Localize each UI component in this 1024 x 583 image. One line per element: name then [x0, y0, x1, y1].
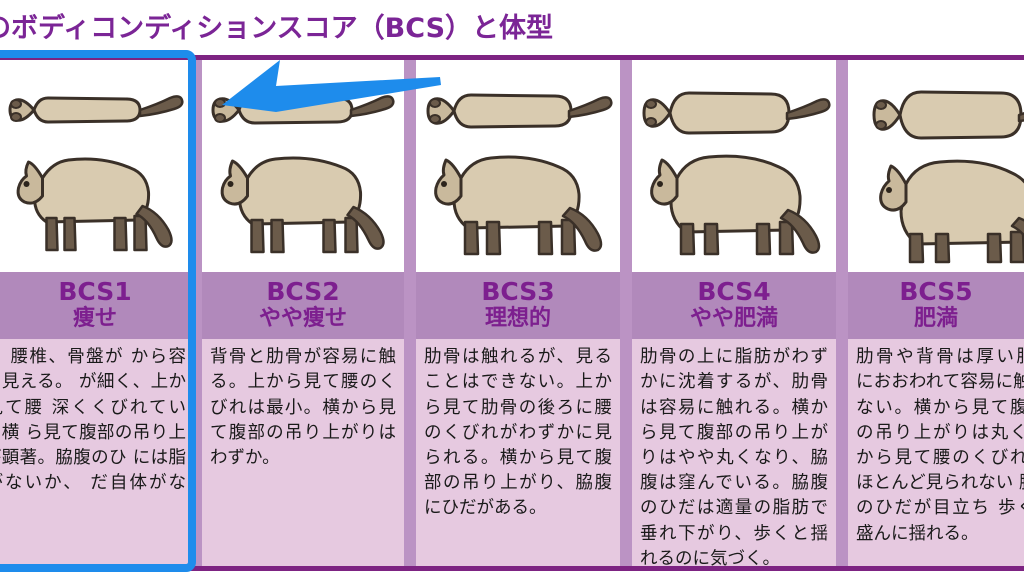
- bcs-description-1: 骨、 腰椎、骨盤が から容 易に見える。 が細く、上から見て腰 深くくびれている…: [0, 339, 190, 566]
- bcs-column-5[interactable]: BCS5 肥満 肋骨や背骨は厚い脂肪 におおわれて容易に触 れない。横から見て腹…: [842, 60, 1024, 566]
- cat-side-view-icon: [3, 144, 188, 264]
- bcs-columns: BCS1 痩せ 骨、 腰椎、骨盤が から容 易に見える。 が細く、上から見て腰 …: [0, 60, 1024, 566]
- table-bottom-rule: [0, 566, 1024, 571]
- bcs-header-1: BCS1 痩せ: [0, 272, 190, 339]
- cat-side-view-icon: [419, 144, 617, 266]
- bcs-header-2: BCS2 やや痩せ: [202, 272, 404, 339]
- bcs-column-3[interactable]: BCS3 理想的 肋骨は触れるが、見ることはできない。上から見て肋骨の後ろに腰の…: [410, 60, 626, 566]
- cat-illustration-3: [416, 60, 620, 272]
- bcs-column-4[interactable]: BCS4 やや肥満 肋骨の上に脂肪がわずかに沈着するが、肋骨は容易に触れる。横か…: [626, 60, 842, 566]
- bcs-score-label-1: BCS1: [0, 278, 190, 306]
- cat-top-view-icon: [634, 84, 834, 142]
- bcs-score-label-5: BCS5: [848, 278, 1024, 306]
- annotation-arrow-icon: [214, 60, 442, 122]
- bcs-description-3: 肋骨は触れるが、見ることはできない。上から見て肋骨の後ろに腰のくびれがわずかに見…: [416, 339, 620, 566]
- bcs-header-5: BCS5 肥満: [848, 272, 1024, 339]
- bcs-word-label-1: 痩せ: [0, 306, 190, 331]
- bcs-header-3: BCS3 理想的: [416, 272, 620, 339]
- cat-side-view-icon: [864, 150, 1024, 272]
- bcs-description-5: 肋骨や背骨は厚い脂肪 におおわれて容易に触 れない。横から見て腹 部の吊り上がり…: [848, 339, 1024, 566]
- bcs-word-label-2: やや痩せ: [202, 306, 404, 331]
- bcs-header-4: BCS4 やや肥満: [632, 272, 836, 339]
- cat-illustration-5: [848, 60, 1024, 272]
- bcs-column-1[interactable]: BCS1 痩せ 骨、 腰椎、骨盤が から容 易に見える。 が細く、上から見て腰 …: [0, 60, 196, 566]
- bcs-word-label-3: 理想的: [416, 306, 620, 331]
- cat-illustration-1: [0, 60, 190, 272]
- bcs-description-2: 背骨と肋骨が容易に触る。上から見て腰のくびれは最小。横から見て腹部の吊り上がりは…: [202, 339, 404, 566]
- bcs-description-4: 肋骨の上に脂肪がわずかに沈着するが、肋骨は容易に触れる。横から見て腹部の吊り上が…: [632, 339, 836, 566]
- bcs-score-label-3: BCS3: [416, 278, 620, 306]
- cat-illustration-4: [632, 60, 836, 272]
- bcs-score-label-4: BCS4: [632, 278, 836, 306]
- cat-top-view-icon: [864, 84, 1024, 146]
- bcs-chart-page: のボディコンディションスコア（BCS）と体型: [0, 0, 1024, 583]
- cat-side-view-icon: [206, 144, 401, 264]
- bcs-score-label-2: BCS2: [202, 278, 404, 306]
- cat-side-view-icon: [635, 144, 833, 268]
- bcs-column-2[interactable]: BCS2 やや痩せ 背骨と肋骨が容易に触る。上から見て腰のくびれは最小。横から見…: [196, 60, 410, 566]
- cat-top-view-icon: [0, 84, 190, 136]
- cat-top-view-icon: [418, 84, 618, 138]
- page-title: のボディコンディションスコア（BCS）と体型: [0, 6, 553, 45]
- bcs-word-label-5: 肥満: [848, 306, 1024, 331]
- bcs-word-label-4: やや肥満: [632, 306, 836, 331]
